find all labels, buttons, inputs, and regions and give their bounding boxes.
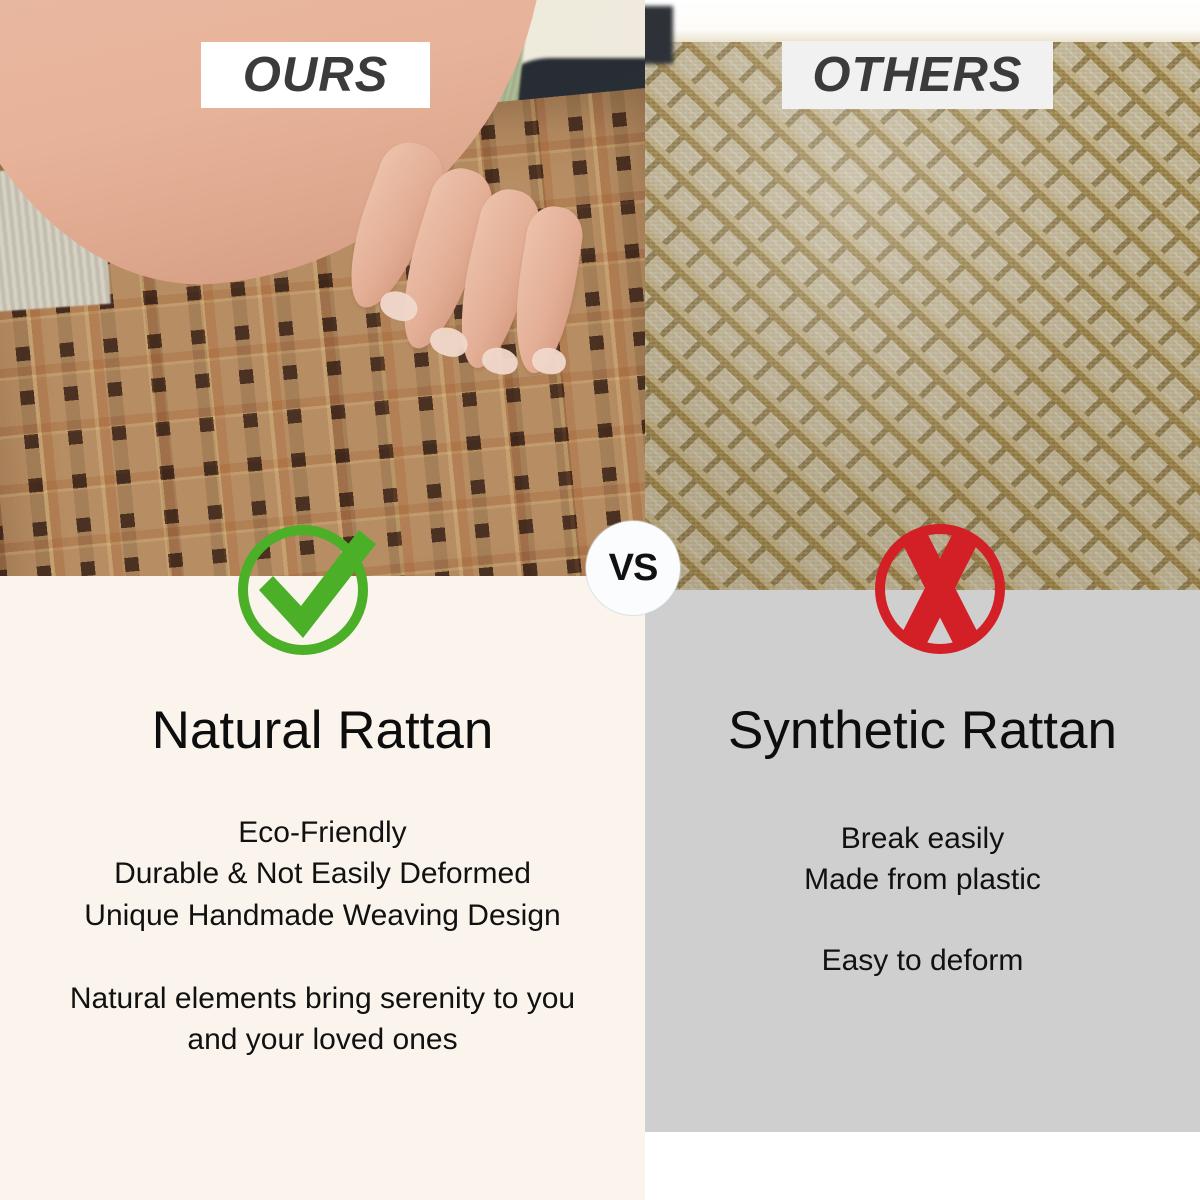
left-feature-item: Unique Handmade Weaving Design [0, 895, 645, 936]
right-drawback-item: Easy to deform [645, 940, 1200, 981]
ours-header-label: OURS [243, 51, 389, 100]
green-check-circle-icon [233, 514, 381, 662]
right-feature-item: Made from plastic [645, 859, 1200, 900]
left-tagline: Natural elements bring serenity to you a… [0, 978, 645, 1061]
left-tagline-line: and your loved ones [0, 1019, 645, 1060]
left-feature-item: Eco-Friendly [0, 812, 645, 853]
comparison-infographic: OURS OTHERS VS Natural Rattan Synthetic … [0, 0, 1200, 1200]
left-feature-item: Durable & Not Easily Deformed [0, 853, 645, 894]
photo-hand [350, 96, 645, 396]
left-tagline-line: Natural elements bring serenity to you [0, 978, 645, 1019]
right-drawback-list: Easy to deform [645, 940, 1200, 981]
others-header-label: OTHERS [812, 51, 1022, 100]
photo-top-edge [645, 0, 1200, 42]
ours-header-plate: OURS [201, 42, 430, 108]
synthetic-weave-shading [645, 30, 1200, 590]
photo-corner-shadow [645, 6, 673, 64]
left-feature-list: Eco-Friendly Durable & Not Easily Deform… [0, 812, 645, 936]
right-column-title: Synthetic Rattan [645, 702, 1200, 760]
right-feature-list: Break easily Made from plastic [645, 818, 1200, 901]
others-header-plate: OTHERS [782, 41, 1053, 109]
left-column-title: Natural Rattan [0, 702, 645, 760]
red-cross-circle-icon [866, 513, 1014, 661]
vs-badge: VS [586, 521, 680, 615]
vs-label: VS [609, 549, 658, 587]
right-feature-item: Break easily [645, 818, 1200, 859]
